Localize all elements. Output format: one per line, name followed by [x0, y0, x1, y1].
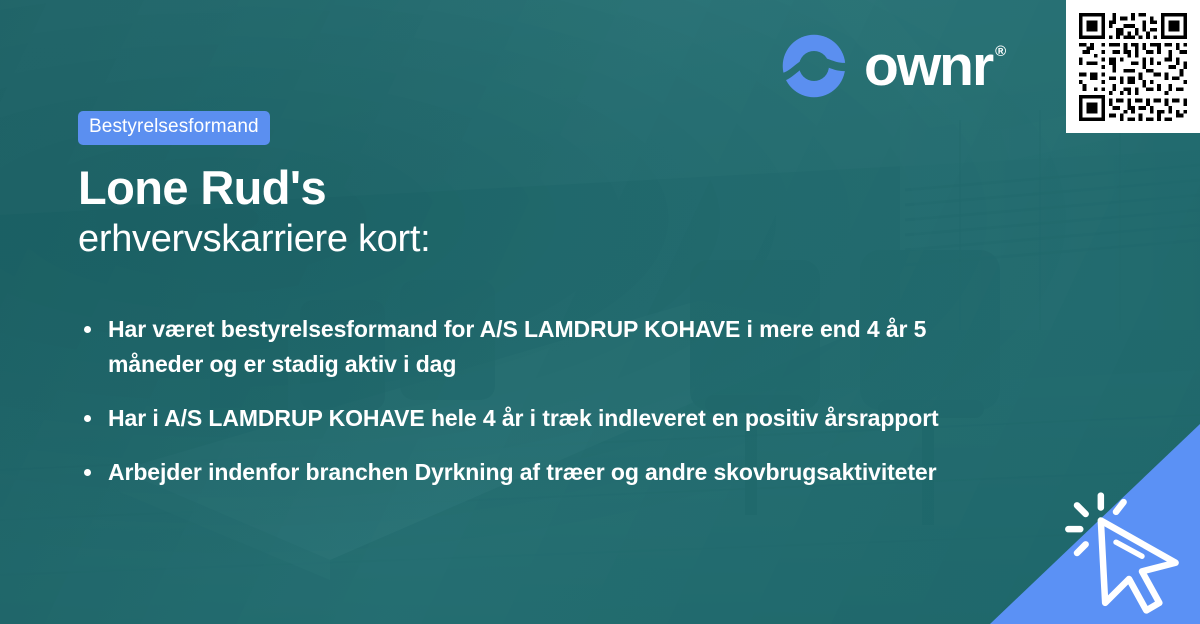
qr-code-icon — [1079, 13, 1187, 121]
ownr-wordmark: ownr ® — [864, 38, 1006, 95]
page-title: Lone Rud's — [78, 162, 430, 215]
ownr-circle-swoosh-logo-icon — [780, 32, 848, 100]
ownr-logo: ownr ® — [780, 32, 1006, 100]
list-item: Har i A/S LAMDRUP KOHAVE hele 4 år i træ… — [80, 401, 960, 436]
click-cursor-icon — [1064, 488, 1194, 618]
headline-block: Bestyrelsesformand Lone Rud's erhvervska… — [78, 111, 430, 262]
list-item: Har været bestyrelsesformand for A/S LAM… — [80, 312, 960, 382]
registered-trademark-icon: ® — [995, 44, 1006, 59]
page-subtitle: erhvervskarriere kort: — [78, 217, 430, 263]
career-facts-list: Har været bestyrelsesformand for A/S LAM… — [80, 312, 1080, 490]
business-card-banner: ownr ® — [0, 0, 1200, 624]
qr-code-panel[interactable] — [1066, 0, 1200, 133]
ownr-wordmark-text: ownr — [864, 38, 992, 95]
role-badge: Bestyrelsesformand — [78, 111, 270, 145]
list-item: Arbejder indenfor branchen Dyrkning af t… — [80, 455, 1080, 490]
